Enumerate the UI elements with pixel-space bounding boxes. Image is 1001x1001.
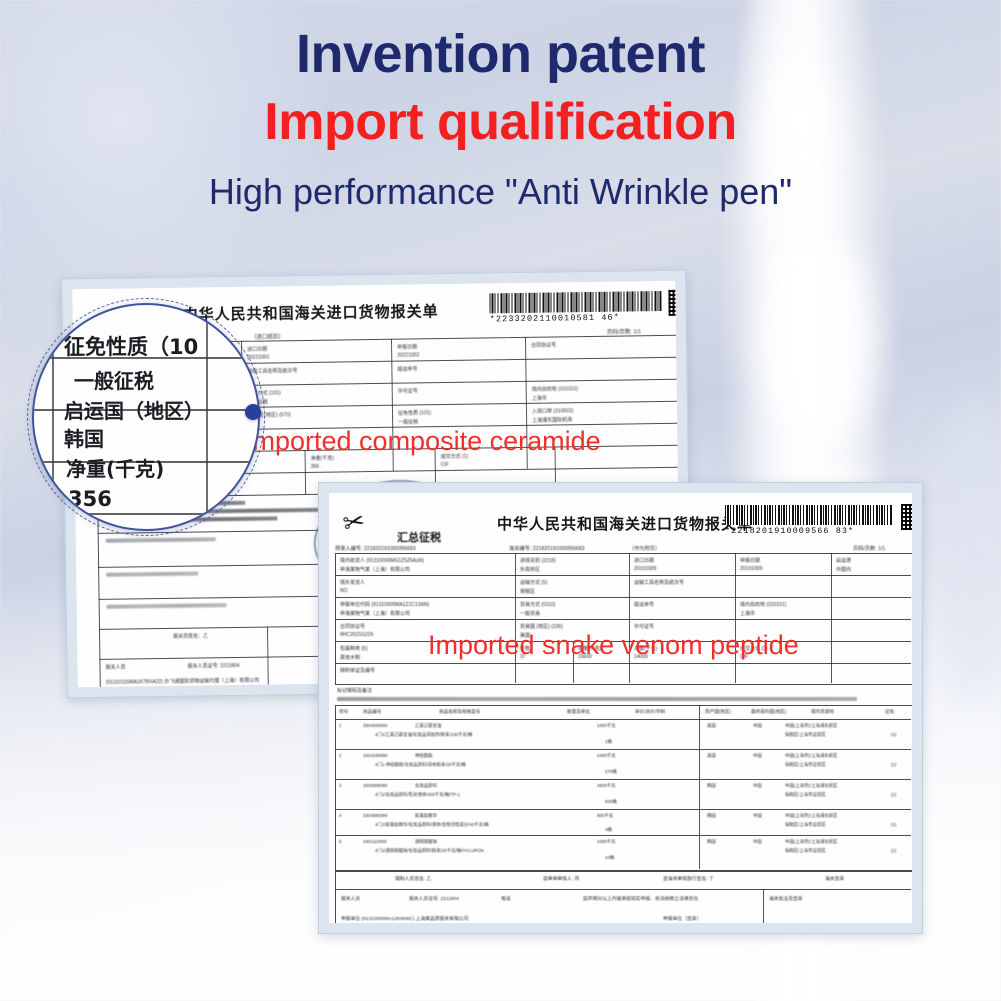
doc2-seal-glyph-icon: ✂ <box>341 507 368 537</box>
magnifier-line-1: 征免性质（10 <box>64 331 198 361</box>
doc2-field-value: 申海某物气某（上海）有限公司 <box>340 566 410 573</box>
doc2-goods-cell: 3304990099 <box>363 813 387 818</box>
doc2-grid-line <box>335 779 911 780</box>
doc2-goods-header: 数量及单位 <box>567 709 590 715</box>
doc2-note-strip: 标记唛码及备注 <box>337 687 372 694</box>
doc2-goods-cell: 乙基己基甘油 <box>415 723 441 729</box>
doc2-goods-cell: 1 <box>339 723 341 728</box>
doc2-field-label: 许可证号 <box>634 623 654 630</box>
headline-subtitle: High performance "Anti Wrinkle pen" <box>0 172 1001 212</box>
doc1-field-label: 合同协议号 <box>531 341 556 348</box>
doc2-customs-note: 海关编号: 221820191000956683 <box>509 545 585 552</box>
doc2-field-label: 申报日期 <box>740 557 760 564</box>
doc2-goods-cell: 中国(上海市)/上海浦东新区 <box>785 783 837 789</box>
doc2-goods-cell: 中国(上海市)/上海浦东新区 <box>785 839 837 845</box>
doc1-declarant-label: 报关人员 <box>105 664 125 671</box>
doc2-goods-cell: 4桶 <box>605 827 612 833</box>
doc2-grid-line <box>335 835 911 836</box>
doc2-goods-cell: 透明质酸钠 <box>415 839 437 845</box>
doc2-field-value: 保税区 <box>520 588 535 595</box>
doc2-goods-cell: 5 <box>339 839 341 844</box>
doc2-goods-cell: 中国 <box>753 753 762 759</box>
doc2-goods-cell: 保税区/上海市自贸区 <box>785 792 826 798</box>
doc2-stamp-note: 申报单位（签章） <box>663 915 701 922</box>
doc2-grid-line <box>335 749 911 750</box>
magnifier-line-6: 356 <box>68 487 112 511</box>
doc2-goods-cell: 4门1/化妆品原料/乳状液体/200千克/桶/TP-1 <box>375 792 460 798</box>
magnifier-line-5: 净重(千克) <box>66 453 164 482</box>
doc2-field-value: 一般贸易 <box>520 610 540 617</box>
doc2-footer-approver: 宜海关审核放行签名: 丁 <box>663 875 714 882</box>
doc2-title: 中华人民共和国海关进口货物报关单 <box>497 513 753 534</box>
headline-block: Invention patent Import qualification Hi… <box>0 0 1001 213</box>
doc2-field-label: 境内目的地 (310101) <box>740 601 786 608</box>
doc2-field-label: 贸易国 (地区) (236) <box>520 623 563 630</box>
doc1-field-value: 20221002 <box>397 352 419 358</box>
doc1-field-value: CIF <box>441 462 449 468</box>
doc2-field-value: 外高桥区 <box>520 566 540 573</box>
doc2-field-value: 申海某物气某（上海）有限公司 <box>340 610 410 617</box>
headline-invention-patent: Invention patent <box>0 26 1001 83</box>
doc2-goods-cell: 1000千克 <box>597 839 616 845</box>
doc2-statement: 兹声明对以上内容承担如实申报、依法纳税之法律责任 <box>583 895 698 902</box>
doc2-field-value: 上海市 <box>740 610 755 617</box>
doc2-goods-cell: (1) <box>891 822 896 827</box>
doc2-grid-line <box>335 889 911 890</box>
doc2-goods-cell: 中国(上海市)/上海浦东新区 <box>785 753 837 759</box>
doc1-field-value: 上海市 <box>532 395 547 402</box>
doc2-goods-cell: 4门1/蛇毒肽精华/化妆品原料/液体/生物活性成分/40千克/桶 <box>375 822 489 828</box>
doc2-goods-cell: 3504009000 <box>363 723 387 728</box>
doc1-field-value: 一般征税 <box>398 418 418 425</box>
magnifier-callout[interactable]: 征免性质（10 一般征税 启运国（地区） 韩国 净重(千克) 356 <box>32 303 260 531</box>
doc2-footer-reviewer: 自审单审核人: 丙 <box>543 875 579 882</box>
doc2-goods-cell: 神经酰胺 <box>415 753 433 759</box>
doc2-field-label: 境外发货人 <box>340 579 365 586</box>
doc2-header-note: 预录入编号: 221820191000956683 <box>335 545 416 552</box>
annotation-imported-snake-venom-peptide: Imported snake venom peptide <box>428 630 799 661</box>
doc2-remark: 海关批注及签章 <box>769 895 803 902</box>
doc2-grid-line <box>335 619 911 620</box>
doc2-goods-cell: 2 <box>339 753 341 758</box>
doc2-grid-line <box>629 553 630 683</box>
doc2-grid-line <box>335 663 911 664</box>
magnifier-rule <box>32 513 260 515</box>
doc2-goods-header: 商品编号 <box>363 709 381 715</box>
doc2-field-label: 贸易方式 (0110) <box>520 601 555 608</box>
doc2-goods-cell: 800千克 <box>597 813 613 819</box>
doc2-footer-maker: 填制人员签名: 乙 <box>395 875 431 882</box>
doc2-goods-cell: 4门1/乙基己基甘油/化妆品添加剂/粉末/100千克/桶 <box>375 732 472 738</box>
doc2-field-value: 中国内 <box>836 566 851 573</box>
doc2-goods-cell: 4800千克 <box>597 783 616 789</box>
doc2-field-value: 9HC2021G226 <box>340 632 373 638</box>
doc2-goods-cell: 1000千克 <box>597 723 616 729</box>
doc2-goods-header: 原产国(地区) <box>705 709 731 715</box>
doc2-goods-cell: 美国 <box>707 723 716 729</box>
doc2-field-label: 合同协议号 <box>340 623 365 630</box>
doc1-field-label: 许可证号 <box>398 387 418 394</box>
magnifier-line-3: 启运国（地区） <box>64 395 204 424</box>
doc2-field-value: 其他木制 <box>340 654 360 661</box>
doc2-goods-header: 最终目的国(地区) <box>751 709 786 715</box>
doc2-bracket-note: （作为附页） <box>629 545 660 552</box>
doc2-barcode <box>725 505 893 525</box>
doc2-field-label: 启运港 <box>836 557 851 564</box>
doc2-field-label: 运输方式 (5) <box>520 579 548 586</box>
doc2-goods-cell: 2924299090 <box>363 753 387 758</box>
magnifier-line-2: 一般征税 <box>74 365 154 394</box>
doc2-declarant-label: 报关人员 <box>341 895 360 902</box>
background-blob <box>760 240 880 440</box>
doc2-barcode-number: *2218201910009566 83* <box>725 526 854 536</box>
doc2-qr-code <box>901 504 912 530</box>
doc2-goods-cell: 中国 <box>753 839 762 845</box>
doc2-goods-cell: (1) <box>891 848 896 853</box>
doc2-goods-cell: 保税区/上海市自贸区 <box>785 822 826 828</box>
headline-import-qualification: Import qualification <box>0 95 1001 150</box>
doc2-goods-cell: 保税区/上海市自贸区 <box>785 848 826 854</box>
doc2-goods-cell: 1桶 <box>605 739 612 745</box>
doc2-field-label: 随附单证及编号 <box>340 667 375 674</box>
doc2-goods-cell: (1) <box>891 762 896 767</box>
doc2-goods-cell: 化妆品原料 <box>415 783 437 789</box>
doc2-goods-cell: 3401110000 <box>363 839 387 844</box>
doc2-goods-cell: 4门1-神经酰胺/化妆品原料/白色粉末/20千克/桶 <box>375 762 466 768</box>
doc2-goods-header: 征免 <box>885 709 894 715</box>
doc2-grid-line <box>335 809 911 810</box>
doc2-field-label: 运输工具名称及航次号 <box>634 579 684 586</box>
doc2-goods-header: 商品名称及规格型号 <box>439 709 480 715</box>
doc2-goods-cell: 美国 <box>707 753 716 759</box>
doc2-page-note: 页码/页数: 1/1 <box>853 545 885 552</box>
doc1-field-value: 356 <box>311 464 319 470</box>
doc2-goods-cell: 中国 <box>753 723 762 729</box>
doc2-agent-value: 申报单位 (91310000MA1ZK8N6C) 上海某品原报关有限公司 <box>341 915 468 922</box>
poster-canvas: Invention patent Import qualification Hi… <box>0 0 1001 1001</box>
doc2-goods-cell: 中国(上海市)/上海浦东新区 <box>785 813 837 819</box>
doc2-goods-cell: 2930909090 <box>363 783 387 788</box>
doc2-goods-cell: 中国 <box>753 813 762 819</box>
callout-anchor-dot <box>245 404 261 420</box>
doc2-goods-cell: 韩国 <box>707 813 716 819</box>
doc2-goods-cell: 韩国 <box>707 839 716 845</box>
doc2-goods-cell: 270桶 <box>605 769 617 775</box>
customs-declaration-page-2: ✂ 汇总征税 中华人民共和国海关进口货物报关单 *221820191000956… <box>329 493 912 923</box>
magnifier-rule <box>52 303 54 531</box>
doc2-field-label: 包装种类 (6) <box>340 645 368 652</box>
doc1-field-value: 上海浦东国际机场 <box>532 416 572 424</box>
doc2-field-label: 提运单号 <box>634 601 654 608</box>
doc2-goods-cell: 4门1/透明质酸钠/化妆品原料/粉末/25千克/桶/HYLURON <box>375 848 484 854</box>
doc2-note-text <box>337 697 857 701</box>
doc2-goods-cell: (1) <box>891 792 896 797</box>
doc2-goods-cell: 韩国 <box>707 783 716 789</box>
magnifier-lens: 征免性质（10 一般征税 启运国（地区） 韩国 净重(千克) 356 <box>32 303 260 531</box>
doc2-grid-line <box>735 553 736 683</box>
doc1-field-label: 申报日期 <box>397 343 417 350</box>
doc2-goods-cell: (1) <box>891 732 896 737</box>
doc1-field-label: 境内目的地 (310101) <box>532 385 578 393</box>
doc2-goods-header: 单价/总价/币制 <box>635 709 665 715</box>
doc2-field-label: 进口日期 <box>634 557 654 564</box>
doc1-barcode-number: *2233202110010581 46* <box>490 313 620 325</box>
doc2-field-value: 20191009 <box>634 566 656 572</box>
doc2-goods-cell: 600桶 <box>605 799 617 805</box>
doc2-grid-line <box>515 553 516 683</box>
doc2-goods-cell: 4 <box>339 813 341 818</box>
doc1-qr-code <box>668 290 680 316</box>
customs-declaration-card-2[interactable]: ✂ 汇总征税 中华人民共和国海关进口货物报关单 *221820191000956… <box>318 482 923 934</box>
doc2-grid-line <box>831 553 832 683</box>
doc2-grid-line <box>699 705 700 869</box>
doc1-field-label: 入境口岸 (310502) <box>532 407 573 415</box>
doc2-grid-line <box>335 719 911 720</box>
doc2-goods-cell: 中国 <box>753 783 762 789</box>
doc1-field-label: 提运单号 <box>397 365 417 372</box>
doc2-goods-cell: 蛇毒肽精华 <box>415 813 437 819</box>
doc2-field-label: 申报单位代码 (91310000MA1Z1C1S6N) <box>340 601 429 608</box>
doc2-goods-cell: 中国(上海市)/上海浦东新区 <box>785 723 837 729</box>
magnifier-rule <box>206 303 208 531</box>
doc2-declarant-id: 报关人员证号: 2211804 <box>409 895 459 902</box>
doc1-declarant-id: 报关人员证号: 2211804 <box>187 662 239 670</box>
doc2-goods-cell: 5400千克 <box>597 753 616 759</box>
doc2-field-value: NO <box>340 588 348 594</box>
doc2-footer-seal: 海关签章 <box>825 875 844 882</box>
doc1-footer-label: 报关员签名：乙 <box>173 632 208 639</box>
doc2-stamp-label: 汇总征税 <box>397 529 441 545</box>
doc2-grid-line <box>335 597 911 598</box>
doc2-goods-header: 项号 <box>339 709 348 715</box>
doc2-grid-line <box>335 575 911 576</box>
doc2-phone-label: 电话 <box>501 895 511 902</box>
doc2-field-value: 20191009 <box>740 566 762 572</box>
doc1-barcode <box>489 291 661 313</box>
doc2-goods-cell: 3 <box>339 783 341 788</box>
doc2-goods-header: 境内货源地 <box>811 709 834 715</box>
doc2-field-label: 境内收货人 (91310000MG1Z5Z6AsN) <box>340 557 424 564</box>
doc2-goods-cell: 10桶 <box>605 855 614 861</box>
doc1-field-label: 征免性质 (101) <box>398 409 431 416</box>
doc2-goods-cell: 保税区/上海市自贸区 <box>785 732 826 738</box>
doc2-grid-line <box>763 889 764 923</box>
magnifier-line-4: 韩国 <box>64 423 104 452</box>
doc2-goods-cell: 保税区/上海市自贸区 <box>785 762 826 768</box>
doc2-field-label: 进境关别 (2218) <box>520 557 556 564</box>
annotation-imported-composite-ceramide: Imported composite ceramide <box>245 426 601 457</box>
